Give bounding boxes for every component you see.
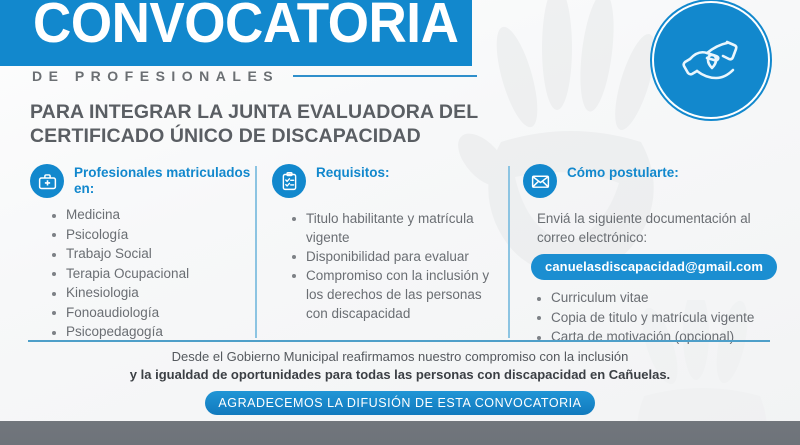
column-title: Profesionales matriculados en: (74, 163, 252, 197)
list-item: Trabajo Social (44, 245, 252, 264)
footer-message: Desde el Gobierno Municipal reafirmamos … (0, 348, 800, 384)
helping-hands-icon (678, 30, 744, 90)
badge-circle (30, 164, 64, 198)
apply-instructions: Enviá la siguiente documentación al corr… (537, 209, 783, 247)
column-title: Cómo postularte: (567, 163, 679, 181)
list-item: Disponibilidad para evaluar (284, 247, 504, 266)
medical-bag-icon (37, 171, 58, 192)
list-item: Copia de titulo y matrícula vigente (529, 309, 783, 328)
subtitle-small: DE PROFESIONALES (32, 68, 279, 84)
share-cta-button[interactable]: AGRADECEMOS LA DIFUSIÓN DE ESTA CONVOCAT… (205, 391, 595, 415)
columns-section: Profesionales matriculados en: Medicina … (0, 163, 800, 338)
page-title: CONVOCATORIA (33, 0, 458, 56)
column-title: Requisitos: (316, 163, 390, 181)
envelope-icon (530, 171, 551, 192)
list-item: Psicopedagogía (44, 323, 252, 342)
title-band: CONVOCATORIA (0, 0, 472, 66)
list-item: Fonoaudiología (44, 304, 252, 323)
list-item: Medicina (44, 206, 252, 225)
subtitle-row: DE PROFESIONALES (32, 68, 477, 84)
list-item: Terapia Ocupacional (44, 265, 252, 284)
professions-list: Medicina Psicología Trabajo Social Terap… (44, 206, 252, 342)
column-header: Requisitos: (272, 163, 504, 198)
documents-list: Curriculum vitae Copia de titulo y matrí… (529, 289, 783, 347)
badge-circle (272, 164, 306, 198)
footer-bar (0, 421, 800, 445)
list-item: Curriculum vitae (529, 289, 783, 308)
column-professionals: Profesionales matriculados en: Medicina … (30, 163, 252, 343)
email-address-pill[interactable]: canuelasdiscapacidad@gmail.com (531, 254, 777, 280)
list-item: Carta de motivación (opcional) (529, 328, 783, 347)
poster-canvas: CONVOCATORIA DE PROFESIONALES PARA INTEG… (0, 0, 800, 445)
column-requirements: Requisitos: Titulo habilitante y matrícu… (272, 163, 504, 323)
subtitle-rule (293, 75, 477, 77)
clipboard-checklist-icon (279, 171, 300, 192)
column-header: Cómo postularte: (523, 163, 783, 198)
footer-divider (28, 340, 770, 342)
footer-line-1: Desde el Gobierno Municipal reafirmamos … (0, 348, 800, 366)
column-header: Profesionales matriculados en: (30, 163, 252, 198)
column-divider-2 (508, 166, 510, 338)
list-item: Psicología (44, 226, 252, 245)
requirements-list: Titulo habilitante y matrícula vigente D… (284, 209, 504, 323)
column-divider-1 (255, 166, 257, 338)
headline: PARA INTEGRAR LA JUNTA EVALUADORA DEL CE… (30, 100, 510, 148)
badge-circle (523, 164, 557, 198)
list-item: Compromiso con la inclusión y los derech… (284, 266, 504, 323)
column-how-to-apply: Cómo postularte: Enviá la siguiente docu… (523, 163, 783, 348)
list-item: Kinesiologia (44, 284, 252, 303)
footer-line-2: y la igualdad de oportunidades para toda… (0, 366, 800, 384)
hero-badge (654, 3, 768, 117)
list-item: Titulo habilitante y matrícula vigente (284, 209, 504, 247)
